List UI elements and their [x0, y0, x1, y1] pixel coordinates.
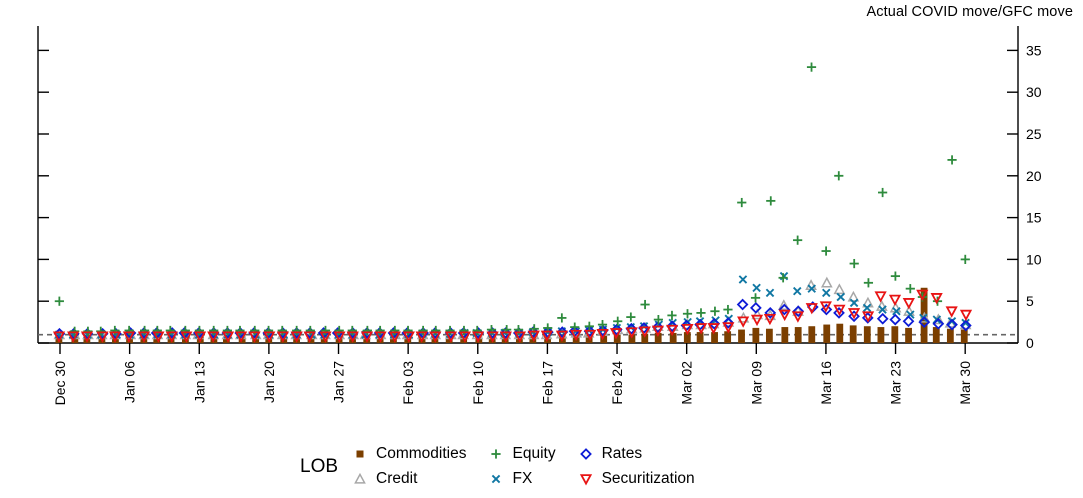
x-axis-tick-label: Mar 09: [748, 361, 764, 405]
legend-marker-commodities: [357, 450, 364, 457]
data-point-equity: [751, 293, 760, 302]
legend-label: Securitization: [602, 471, 695, 487]
data-point-equity: [557, 313, 566, 322]
data-point-equity: [906, 284, 915, 293]
data-point-commodities: [697, 332, 704, 343]
data-point-commodities: [711, 332, 718, 343]
legend-label: FX: [512, 471, 532, 487]
data-point-commodities: [808, 326, 815, 343]
data-point-commodities: [836, 324, 843, 343]
y-axis-tick-label: 25: [1026, 126, 1042, 142]
data-point-equity: [766, 196, 775, 205]
data-point-credit: [822, 278, 831, 287]
data-point-equity: [710, 307, 719, 316]
data-point-fx: [863, 304, 870, 311]
legend-item-rates[interactable]: Rates: [578, 446, 695, 462]
series-securitization: [54, 291, 970, 341]
data-point-commodities: [752, 328, 759, 343]
x-axis-tick-label: Jan 20: [261, 361, 277, 403]
data-point-equity: [626, 312, 635, 321]
legend-marker-equity: [492, 449, 501, 458]
series-equity: [55, 63, 970, 336]
data-point-equity: [947, 155, 956, 164]
data-point-securitization: [904, 299, 913, 308]
data-point-securitization: [849, 309, 858, 318]
data-point-equity: [807, 63, 816, 72]
data-point-equity: [737, 198, 746, 207]
data-point-rates: [891, 315, 900, 324]
data-point-commodities: [738, 330, 745, 343]
data-point-commodities: [891, 326, 898, 343]
data-point-equity: [850, 259, 859, 268]
data-point-securitization: [947, 307, 956, 316]
data-point-fx: [823, 289, 830, 296]
data-point-commodities: [961, 330, 968, 343]
legend-item-commodities[interactable]: Commodities: [352, 446, 466, 462]
data-point-commodities: [933, 327, 940, 343]
legend-label: Equity: [512, 446, 555, 462]
data-point-commodities: [795, 327, 802, 343]
legend-items: CommoditiesEquityRatesCreditFXSecuritiza…: [352, 441, 695, 491]
data-point-fx: [753, 284, 760, 291]
data-point-credit: [835, 285, 844, 294]
legend-marker-equity: [488, 446, 504, 462]
y-axis-tick-label: 35: [1026, 42, 1042, 58]
data-point-securitization: [961, 311, 970, 320]
data-point-equity: [864, 278, 873, 287]
data-point-rates: [878, 314, 887, 323]
legend-item-securitization[interactable]: Securitization: [578, 471, 695, 487]
data-point-rates: [738, 300, 747, 309]
x-axis-tick-label: Feb 17: [539, 361, 555, 405]
y-axis-tick-label: 30: [1026, 84, 1042, 100]
data-point-equity: [667, 311, 676, 320]
x-axis-tick-label: Feb 24: [609, 361, 625, 405]
data-point-commodities: [878, 327, 885, 343]
series-rates: [55, 300, 971, 338]
legend-marker-securitization: [578, 471, 594, 487]
data-point-equity: [55, 297, 64, 306]
data-point-equity: [696, 308, 705, 317]
data-point-commodities: [724, 331, 731, 343]
legend: LOB CommoditiesEquityRatesCreditFXSecuri…: [300, 440, 820, 492]
x-axis-tick-label: Dec 30: [52, 361, 68, 406]
legend-marker-rates: [578, 446, 594, 462]
legend-marker-credit: [355, 474, 364, 483]
legend-item-fx[interactable]: FX: [488, 471, 555, 487]
y-axis-tick-label: 20: [1026, 168, 1042, 184]
data-point-equity: [891, 272, 900, 281]
x-axis-tick-label: Mar 16: [818, 361, 834, 405]
x-axis-tick-label: Jan 13: [191, 361, 207, 403]
legend-marker-commodities: [352, 446, 368, 462]
y-axis-tick-label: 10: [1026, 251, 1042, 267]
data-point-equity: [821, 246, 830, 255]
data-point-equity: [878, 188, 887, 197]
legend-marker-rates: [581, 449, 590, 458]
data-point-rates: [904, 317, 913, 326]
legend-label: Commodities: [376, 446, 466, 462]
y-axis-tick-label: 0: [1026, 335, 1034, 351]
y-axis-tick-label: 5: [1026, 293, 1034, 309]
data-point-equity: [961, 255, 970, 264]
data-point-equity: [683, 309, 692, 318]
data-point-commodities: [781, 327, 788, 343]
data-point-commodities: [823, 325, 830, 343]
x-axis-tick-label: Feb 03: [400, 361, 416, 405]
data-point-commodities: [905, 328, 912, 343]
data-point-commodities: [947, 329, 954, 343]
data-point-fx: [739, 276, 746, 283]
legend-label: Rates: [602, 446, 643, 462]
x-axis-tick-label: Mar 30: [957, 361, 973, 405]
data-point-securitization: [890, 296, 899, 305]
data-point-commodities: [864, 326, 871, 343]
series-fx: [55, 273, 969, 339]
data-point-commodities: [766, 329, 773, 343]
legend-item-equity[interactable]: Equity: [488, 446, 555, 462]
x-axis-tick-label: Mar 02: [679, 361, 695, 405]
x-axis-tick-label: Jan 27: [331, 361, 347, 403]
legend-title: LOB: [300, 457, 338, 476]
data-point-securitization: [807, 304, 816, 313]
x-axis-tick-label: Mar 23: [888, 361, 904, 405]
data-point-equity: [834, 171, 843, 180]
legend-marker-fx: [493, 475, 500, 482]
data-point-fx: [766, 289, 773, 296]
series-credit: [55, 278, 971, 338]
legend-marker-securitization: [581, 475, 590, 484]
data-point-equity: [640, 300, 649, 309]
data-point-equity: [723, 305, 732, 314]
legend-marker-credit: [352, 471, 368, 487]
plot-area: 05101520253035Dec 30Jan 06Jan 13Jan 20Ja…: [0, 0, 1083, 498]
data-point-commodities: [850, 325, 857, 343]
data-point-securitization: [752, 316, 761, 325]
data-point-fx: [837, 293, 844, 300]
y-axis-tick-label: 15: [1026, 210, 1042, 226]
data-point-commodities: [670, 333, 677, 343]
scatter-plot-svg: 05101520253035Dec 30Jan 06Jan 13Jan 20Ja…: [0, 0, 1083, 440]
data-point-securitization: [876, 292, 885, 301]
legend-marker-fx: [488, 471, 504, 487]
data-point-fx: [794, 288, 801, 295]
x-axis-tick-label: Jan 06: [122, 361, 138, 403]
legend-item-credit[interactable]: Credit: [352, 471, 466, 487]
x-axis-tick-label: Feb 10: [470, 361, 486, 405]
legend-label: Credit: [376, 471, 417, 487]
data-point-equity: [793, 236, 802, 245]
